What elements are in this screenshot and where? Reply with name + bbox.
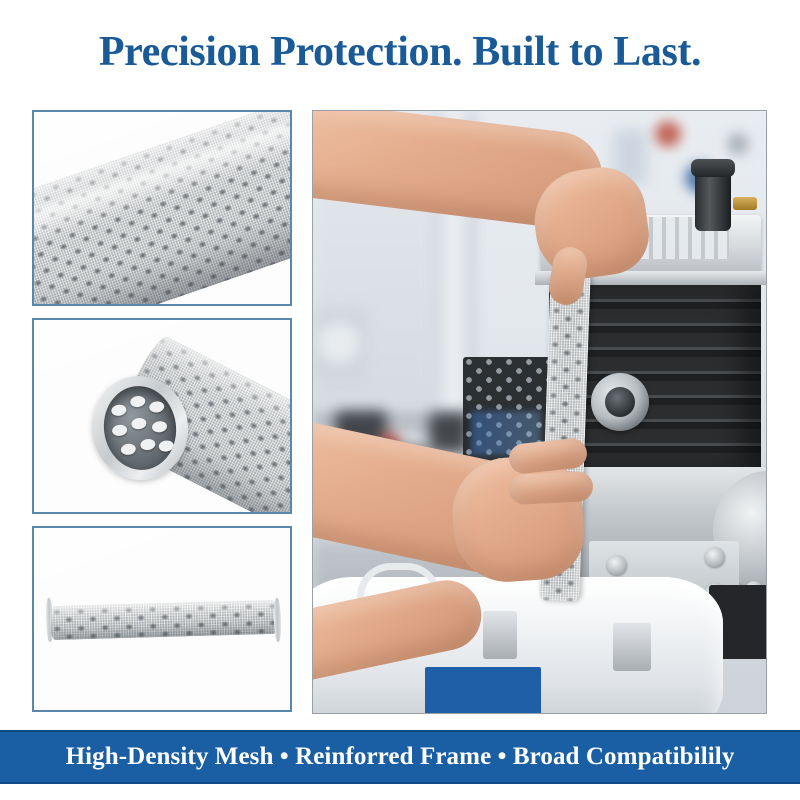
installation-photo	[312, 110, 767, 714]
full-filter-tube-image	[34, 528, 290, 710]
mesh-closeup-image	[34, 112, 290, 304]
bore-hole	[120, 443, 136, 456]
background-red-handle	[655, 121, 681, 147]
mounting-bolt	[607, 555, 627, 575]
tank-mount-foot	[613, 623, 651, 671]
page-title: Precision Protection. Built to Last.	[0, 28, 800, 76]
valve-cap-top	[691, 159, 735, 177]
bore-hole	[151, 420, 167, 433]
tile-full-filter-tube	[32, 526, 292, 712]
background-gauge	[319, 323, 359, 363]
feature-banner: High-Density Mesh • Reinforred Frame • B…	[0, 730, 800, 784]
tile-mesh-closeup	[32, 110, 292, 306]
tank-brand-label	[425, 667, 541, 714]
mesh-tube-shape	[34, 112, 290, 304]
bore-hole	[140, 438, 156, 451]
bore-hole	[130, 395, 146, 408]
feature-banner-text: High-Density Mesh • Reinforred Frame • B…	[66, 743, 735, 771]
technician-lower-finger	[508, 471, 593, 505]
filter-tube-shape	[50, 600, 279, 640]
tank-mount-foot	[483, 611, 517, 659]
bore-hole	[149, 400, 165, 413]
tile-filter-open-end	[32, 318, 292, 514]
bore-hole	[111, 424, 127, 437]
product-infographic: Precision Protection. Built to Last.	[0, 0, 800, 800]
brass-fitting	[733, 197, 757, 210]
mounting-bolt	[705, 547, 725, 567]
background-tool	[727, 133, 749, 155]
filter-end-cap-right	[273, 598, 281, 642]
intake-port-bore	[605, 387, 635, 417]
filter-open-end-image	[34, 320, 290, 512]
bore-hole	[111, 404, 127, 417]
bore-hole	[131, 417, 147, 430]
